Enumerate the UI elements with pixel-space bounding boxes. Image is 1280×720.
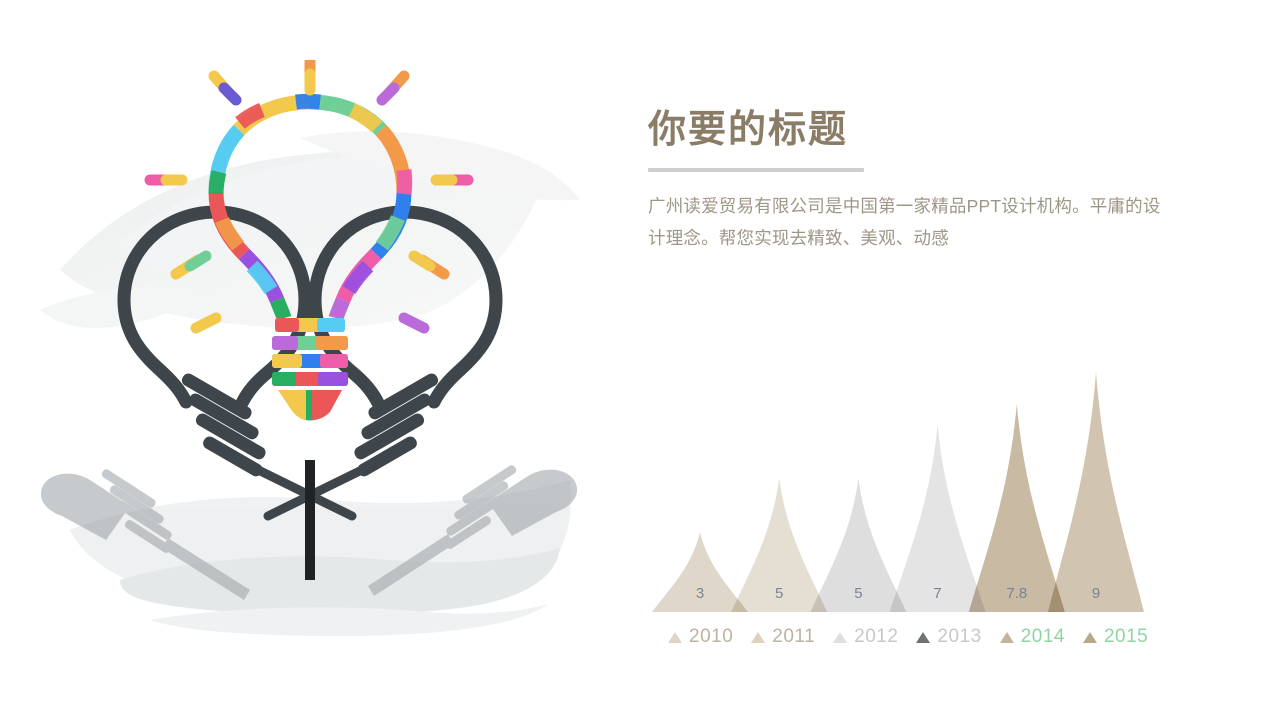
legend-item-2015[interactable]: 2015 bbox=[1083, 626, 1148, 648]
text-content-block: 你要的标题 广州读爱贸易有限公司是中国第一家精品PPT设计机构。平庸的设计理念。… bbox=[648, 108, 1188, 272]
triangle-marker-icon bbox=[751, 632, 765, 643]
cone-value-label: 7.8 bbox=[1006, 585, 1027, 602]
title-divider bbox=[648, 168, 864, 172]
legend-label: 2015 bbox=[1104, 626, 1148, 648]
lightbulb-illustration bbox=[0, 60, 620, 660]
cone-bar[interactable] bbox=[890, 425, 986, 612]
cone-value-label: 7 bbox=[933, 585, 941, 602]
cone-value-label: 5 bbox=[775, 585, 783, 602]
cone-value-label: 9 bbox=[1092, 585, 1100, 602]
legend-label: 2012 bbox=[854, 626, 898, 648]
legend-label: 2010 bbox=[689, 626, 733, 648]
cone-chart: 35577.89 bbox=[648, 330, 1148, 660]
cone-value-label: 3 bbox=[696, 585, 704, 602]
legend-label: 2013 bbox=[937, 626, 981, 648]
slide-canvas: 你要的标题 广州读爱贸易有限公司是中国第一家精品PPT设计机构。平庸的设计理念。… bbox=[0, 0, 1280, 720]
legend-item-2011[interactable]: 2011 bbox=[751, 626, 815, 648]
triangle-marker-icon bbox=[668, 632, 682, 643]
cone-series-layer bbox=[652, 372, 1144, 612]
chart-legend: 2010 2011 2012 2013 2014 2015 bbox=[668, 626, 1148, 648]
legend-item-2012[interactable]: 2012 bbox=[833, 626, 898, 648]
page-title: 你要的标题 bbox=[648, 108, 1188, 154]
cone-bar[interactable] bbox=[969, 404, 1065, 612]
triangle-marker-icon bbox=[916, 632, 930, 643]
legend-item-2010[interactable]: 2010 bbox=[668, 626, 733, 648]
triangle-marker-icon bbox=[1083, 632, 1097, 643]
cone-bar[interactable] bbox=[1048, 372, 1144, 612]
cone-value-label: 5 bbox=[854, 585, 862, 602]
center-bulb-stem bbox=[305, 460, 315, 580]
legend-item-2014[interactable]: 2014 bbox=[1000, 626, 1065, 648]
bulb-screw-threads bbox=[272, 318, 348, 421]
triangle-marker-icon bbox=[1000, 632, 1014, 643]
legend-label: 2014 bbox=[1021, 626, 1065, 648]
triangle-marker-icon bbox=[833, 632, 847, 643]
legend-label: 2011 bbox=[772, 626, 815, 648]
body-paragraph: 广州读爱贸易有限公司是中国第一家精品PPT设计机构。平庸的设计理念。帮您实现去精… bbox=[648, 190, 1172, 255]
legend-item-2013[interactable]: 2013 bbox=[916, 626, 981, 648]
